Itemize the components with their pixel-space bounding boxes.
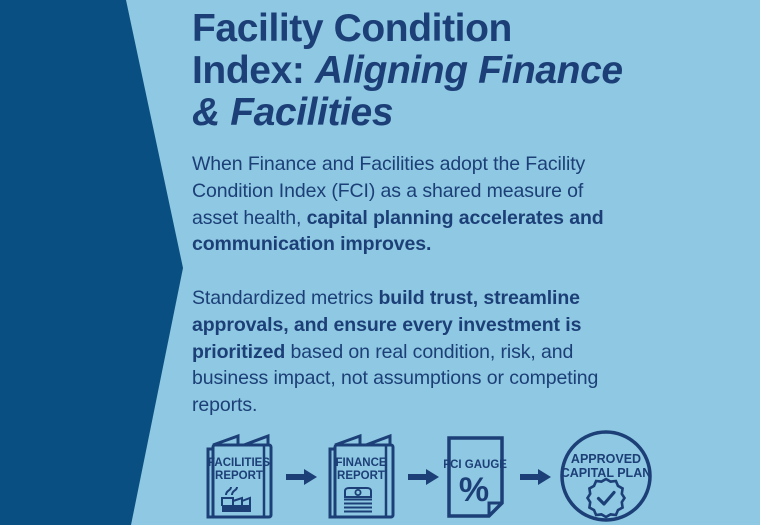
page-title: Facility Condition Index: Aligning Finan… bbox=[192, 0, 637, 134]
infographic-panel: Facility Condition Index: Aligning Finan… bbox=[0, 0, 760, 525]
title-line-2-emphasis: Aligning Finance bbox=[315, 49, 623, 92]
factory-icon bbox=[222, 487, 251, 512]
title-line-2-plain: Index: bbox=[192, 49, 304, 92]
body-paragraph-2: Standardized metrics build trust, stream… bbox=[192, 285, 632, 419]
flow-step-label-line1: APPROVED bbox=[571, 452, 641, 466]
flow-step-finance-report: FINANCE REPORT bbox=[322, 431, 404, 523]
body-paragraph-1: When Finance and Facilities adopt the Fa… bbox=[192, 151, 632, 258]
arrow-right-icon bbox=[520, 466, 552, 488]
title-line-3-emphasis: & Facilities bbox=[192, 91, 393, 134]
percent-icon: % bbox=[459, 471, 489, 509]
flow-step-label-line2: REPORT bbox=[337, 470, 385, 482]
flow-step-label-line1: FACILITIES bbox=[208, 457, 270, 469]
process-flow-diagram: FACILITIES REPORT bbox=[200, 428, 645, 525]
flow-step-approved-capital-plan: APPROVED CAPITAL PLAN bbox=[556, 428, 656, 525]
cash-stack-icon bbox=[344, 488, 372, 512]
content-column: Facility Condition Index: Aligning Finan… bbox=[192, 0, 760, 525]
flow-step-label-line2: REPORT bbox=[215, 470, 263, 482]
title-line-1: Facility Condition bbox=[192, 7, 512, 50]
left-chevron-shape bbox=[0, 0, 200, 525]
flow-step-fci-gauge: FCI GAUGE % bbox=[444, 431, 516, 523]
arrow-right-icon bbox=[408, 466, 440, 488]
arrow-right-icon bbox=[286, 466, 318, 488]
text-run-plain-0: Standardized metrics bbox=[192, 287, 378, 309]
flow-step-facilities-report: FACILITIES REPORT bbox=[200, 431, 282, 523]
check-seal-icon bbox=[588, 479, 625, 517]
flow-step-label-line1: FCI GAUGE bbox=[444, 459, 507, 471]
flow-step-label-line1: FINANCE bbox=[335, 457, 386, 469]
